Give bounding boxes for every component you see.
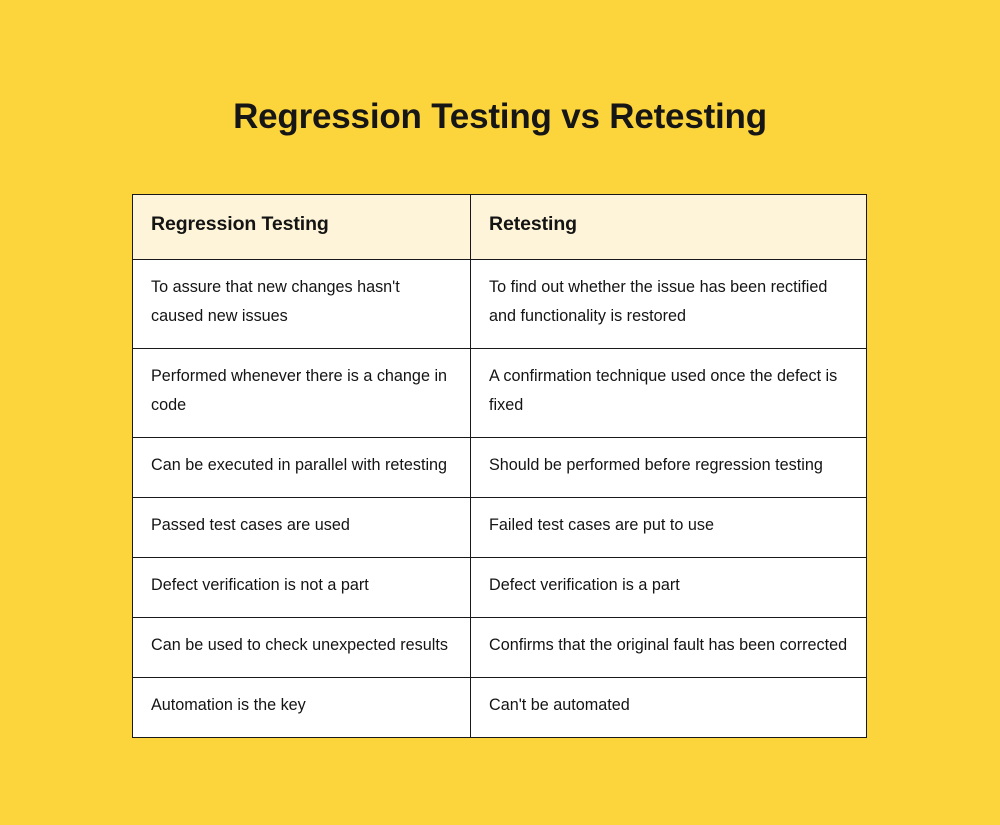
cell-regression-testing: Can be executed in parallel with retesti… xyxy=(133,438,471,498)
cell-regression-testing: Automation is the key xyxy=(133,678,471,738)
cell-retesting: Defect verification is a part xyxy=(471,558,867,618)
cell-text: To assure that new changes hasn't caused… xyxy=(151,273,452,331)
cell-text: Performed whenever there is a change in … xyxy=(151,362,452,420)
column-header-regression-testing: Regression Testing xyxy=(133,195,471,260)
cell-text: Passed test cases are used xyxy=(151,511,452,540)
cell-text: Failed test cases are put to use xyxy=(489,511,848,540)
cell-text: Can be used to check unexpected results xyxy=(151,631,452,660)
cell-text: Defect verification is a part xyxy=(489,571,848,600)
table-header-row: Regression Testing Retesting xyxy=(133,195,867,260)
table-row: To assure that new changes hasn't caused… xyxy=(133,260,867,349)
cell-regression-testing: Can be used to check unexpected results xyxy=(133,618,471,678)
cell-retesting: To find out whether the issue has been r… xyxy=(471,260,867,349)
cell-text: Can be executed in parallel with retesti… xyxy=(151,451,452,480)
comparison-table: Regression Testing Retesting To assure t… xyxy=(132,194,867,738)
table-body: To assure that new changes hasn't caused… xyxy=(133,260,867,738)
cell-regression-testing: Passed test cases are used xyxy=(133,498,471,558)
cell-text: Defect verification is not a part xyxy=(151,571,452,600)
table-row: Can be used to check unexpected results … xyxy=(133,618,867,678)
table-row: Automation is the key Can't be automated xyxy=(133,678,867,738)
table-row: Defect verification is not a part Defect… xyxy=(133,558,867,618)
table-row: Performed whenever there is a change in … xyxy=(133,349,867,438)
cell-text: To find out whether the issue has been r… xyxy=(489,273,848,331)
cell-text: Confirms that the original fault has bee… xyxy=(489,631,848,660)
infographic-page: Regression Testing vs Retesting Regressi… xyxy=(0,0,1000,825)
cell-text: A confirmation technique used once the d… xyxy=(489,362,848,420)
cell-retesting: A confirmation technique used once the d… xyxy=(471,349,867,438)
cell-regression-testing: To assure that new changes hasn't caused… xyxy=(133,260,471,349)
cell-regression-testing: Defect verification is not a part xyxy=(133,558,471,618)
column-header-retesting: Retesting xyxy=(471,195,867,260)
cell-retesting: Confirms that the original fault has bee… xyxy=(471,618,867,678)
cell-text: Should be performed before regression te… xyxy=(489,451,848,480)
cell-retesting: Can't be automated xyxy=(471,678,867,738)
cell-text: Automation is the key xyxy=(151,691,452,720)
cell-retesting: Failed test cases are put to use xyxy=(471,498,867,558)
table-row: Can be executed in parallel with retesti… xyxy=(133,438,867,498)
cell-text: Can't be automated xyxy=(489,691,848,720)
page-title: Regression Testing vs Retesting xyxy=(0,93,1000,140)
cell-regression-testing: Performed whenever there is a change in … xyxy=(133,349,471,438)
table-row: Passed test cases are used Failed test c… xyxy=(133,498,867,558)
cell-retesting: Should be performed before regression te… xyxy=(471,438,867,498)
table-header: Regression Testing Retesting xyxy=(133,195,867,260)
